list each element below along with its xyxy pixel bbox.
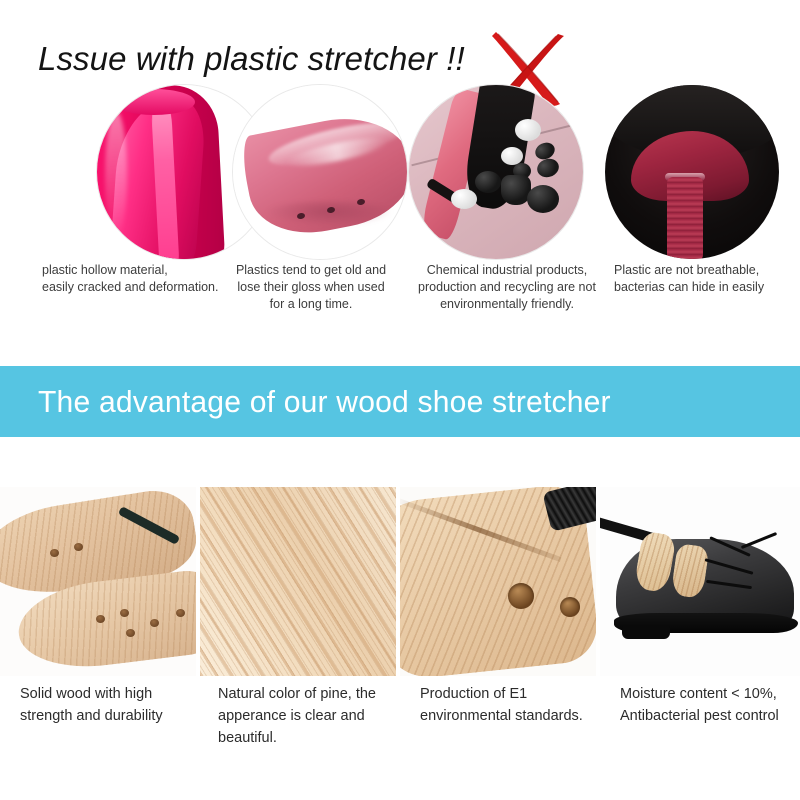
caption-line: production and recycling are not	[410, 279, 604, 296]
plastic-issues-section: Lssue with plastic stretcher !!	[0, 0, 800, 362]
plastic-captions-row: plastic hollow material, easily cracked …	[0, 262, 800, 334]
caption-line: bacterias can hide in easily	[614, 279, 790, 296]
caption-line: strength and durability	[20, 705, 196, 727]
red-stretcher-in-dark-shoe-photo	[604, 84, 780, 260]
caption-line: Chemical industrial products,	[410, 262, 604, 279]
plastic-item-4	[604, 84, 780, 260]
plastic-item-3	[408, 84, 584, 260]
advantage-banner: The advantage of our wood shoe stretcher	[0, 366, 800, 437]
banner-title: The advantage of our wood shoe stretcher	[38, 384, 611, 420]
caption-line: easily cracked and deformation.	[42, 279, 218, 296]
plastic-caption-4: Plastic are not breathable, bacterias ca…	[614, 262, 790, 296]
caption-line: plastic hollow material,	[42, 262, 218, 279]
caption-line: Moisture content < 10%,	[620, 683, 800, 705]
plastic-caption-2: Plastics tend to get old and lose their …	[228, 262, 394, 313]
wood-advantages-section: Solid wood with high strength and durabi…	[0, 437, 800, 800]
wood-caption-1: Solid wood with high strength and durabi…	[20, 683, 196, 727]
pine-stretcher-toe-blocks-photo	[0, 487, 196, 676]
plastic-photos-row	[0, 84, 800, 260]
wood-caption-4: Moisture content < 10%, Antibacterial pe…	[620, 683, 800, 727]
plastic-parts-on-tile-photo	[408, 84, 584, 260]
wood-captions-row: Solid wood with high strength and durabi…	[0, 683, 800, 753]
caption-line: environmentally friendly.	[410, 296, 604, 313]
wood-photos-row	[0, 487, 800, 676]
caption-line: apperance is clear and beautiful.	[218, 705, 408, 749]
wood-block-with-holes-photo	[400, 487, 596, 676]
pine-wood-grain-macro-photo	[200, 487, 396, 676]
caption-line: Production of E1	[420, 683, 600, 705]
plastic-caption-3: Chemical industrial products, production…	[410, 262, 604, 313]
black-shoe-with-wood-stretcher-photo	[600, 487, 800, 676]
plastic-caption-1: plastic hollow material, easily cracked …	[42, 262, 218, 296]
caption-line: Antibacterial pest control	[620, 705, 800, 727]
pink-plastic-toe-cap-photo	[232, 84, 408, 260]
caption-line: Natural color of pine, the	[218, 683, 408, 705]
caption-line: Plastics tend to get old and	[228, 262, 394, 279]
caption-line: Plastic are not breathable,	[614, 262, 790, 279]
wood-caption-3: Production of E1 environmental standards…	[420, 683, 600, 727]
caption-line: lose their gloss when used	[228, 279, 394, 296]
wood-caption-2: Natural color of pine, the apperance is …	[218, 683, 408, 749]
caption-line: Solid wood with high	[20, 683, 196, 705]
page-title: Lssue with plastic stretcher !!	[38, 40, 465, 78]
caption-line: for a long time.	[228, 296, 394, 313]
caption-line: environmental standards.	[420, 705, 600, 727]
plastic-item-2	[232, 84, 408, 260]
